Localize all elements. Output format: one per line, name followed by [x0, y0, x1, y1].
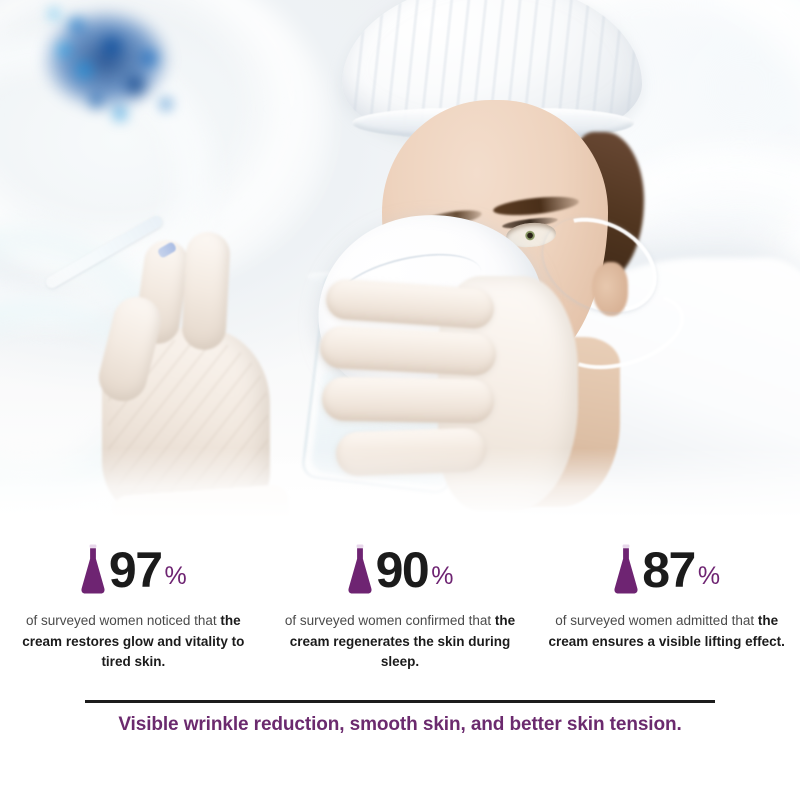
photo-bottom-fade: [0, 448, 800, 518]
stat-lead-text: of surveyed women noticed that: [26, 613, 220, 628]
stat-lead-text: of surveyed women confirmed that: [285, 613, 495, 628]
infographic-poster: 97 % of surveyed women noticed that the …: [0, 0, 800, 800]
stat-value: 87: [642, 546, 695, 594]
footer-tagline: Visible wrinkle reduction, smooth skin, …: [0, 714, 800, 736]
flask-icon: [613, 544, 639, 594]
stats-row: 97 % of surveyed women noticed that the …: [0, 518, 800, 688]
stat-headline-2: 90 %: [347, 540, 454, 594]
stat-value: 97: [109, 546, 162, 594]
glove-finger: [319, 325, 497, 376]
stat-unit: %: [431, 564, 453, 594]
flask-icon: [80, 544, 106, 594]
stat-lead-text: of surveyed women admitted that: [555, 613, 758, 628]
stat-item-1: 97 % of surveyed women noticed that the …: [0, 518, 267, 688]
glove-finger: [181, 231, 231, 351]
blue-culture-sample: [24, 0, 204, 144]
stat-description-2: of surveyed women confirmed that the cre…: [273, 611, 528, 673]
footer-divider: [85, 700, 715, 703]
glove-finger: [322, 377, 495, 424]
hero-photo: [0, 0, 800, 518]
stat-headline-3: 87 %: [613, 540, 720, 594]
stat-description-3: of surveyed women admitted that the crea…: [539, 611, 794, 652]
stat-headline-1: 97 %: [80, 540, 187, 594]
stat-unit: %: [698, 564, 720, 594]
stat-item-3: 87 % of surveyed women admitted that the…: [533, 518, 800, 688]
stat-unit: %: [165, 564, 187, 594]
stat-description-1: of surveyed women noticed that the cream…: [6, 611, 261, 673]
stat-value: 90: [376, 546, 429, 594]
flask-icon: [347, 544, 373, 594]
stat-item-2: 90 % of surveyed women confirmed that th…: [267, 518, 534, 688]
